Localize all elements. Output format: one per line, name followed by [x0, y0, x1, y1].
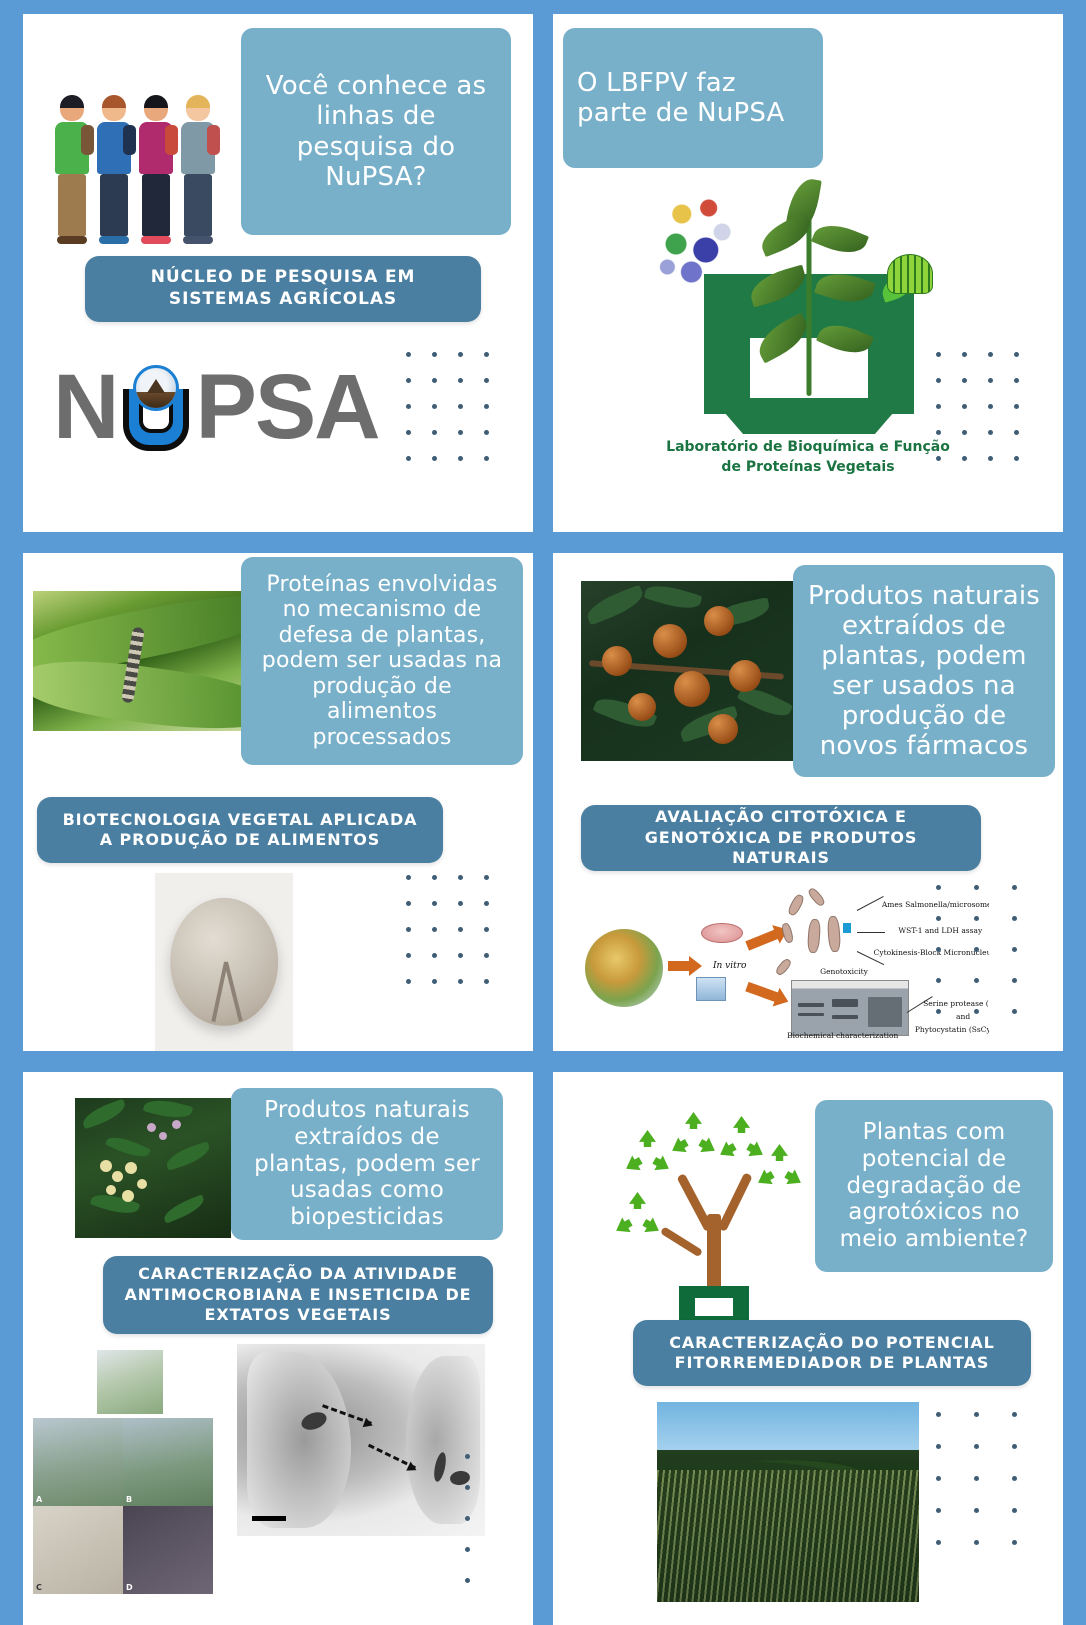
dot-grid-decoration [936, 885, 1017, 1014]
nupsa-logo-letter-n: N [53, 366, 117, 449]
bioassay-panel-label: C [36, 1583, 42, 1592]
nupsa-u-icon [119, 367, 193, 453]
panel-lbfpv-intro: O LBFPV faz parte de NuPSA Laboratório d… [553, 14, 1063, 532]
dot-grid-decoration [936, 1412, 1017, 1545]
gel-electrophoresis-image [791, 980, 909, 1036]
panel-biotecnologia-alimentos: Proteínas envolvidas no mecanismo de def… [23, 553, 533, 1051]
bioassay-cell-b: B [123, 1418, 213, 1506]
petri-dish-icon [701, 923, 743, 943]
panel-caption: CARACTERIZAÇÃO DA ATIVIDADE ANTIMOCROBIA… [103, 1256, 493, 1334]
in-vitro-label: In vitro [713, 961, 747, 971]
panel-biopesticidas: Produtos naturais extraídos de plantas, … [23, 1072, 533, 1625]
panel-citotoxica-genotoxica: Produtos naturais extraídos de plantas, … [553, 553, 1063, 1051]
bioassay-cell-d: D [123, 1506, 213, 1594]
panel-headline: Produtos naturais extraídos de plantas, … [793, 565, 1055, 777]
panel-caption: AVALIAÇÃO CITOTÓXICA E GENOTÓXICA DE PRO… [581, 805, 981, 871]
panel-headline: Proteínas envolvidas no mecanismo de def… [241, 557, 523, 765]
flow-arrow-icon [745, 981, 778, 1001]
panel-caption: BIOTECNOLOGIA VEGETAL APLICADA A PRODUÇÃ… [37, 797, 443, 863]
bioassay-panel-label: A [36, 1495, 42, 1504]
student-figure [137, 95, 175, 244]
students-illustration [53, 74, 243, 244]
biochemical-characterization-label: Biochemical characterization [787, 1031, 898, 1040]
scale-bar [252, 1516, 286, 1521]
protein-label: Phytocystatin (SsCyst) [915, 1025, 989, 1034]
bioassay-panel-label: D [126, 1583, 133, 1592]
plate-reader-icon [696, 977, 726, 1001]
plant-extract-icon [585, 929, 663, 1007]
lbfpv-logo [649, 174, 969, 454]
recycle-icon [671, 1112, 719, 1160]
panel-headline: O LBFPV faz parte de NuPSA [563, 28, 823, 168]
bioassay-cell-a: A [33, 1418, 123, 1506]
bioassay-cell-c: C [33, 1506, 123, 1594]
dot-grid-decoration [406, 352, 489, 461]
panel-grid: Você conhece as linhas de pesquisa do Nu… [23, 14, 1063, 1625]
recycle-icon [615, 1192, 663, 1240]
fruit-branch-photo [581, 581, 793, 761]
dot-grid-decoration [936, 352, 1019, 461]
flow-arrow-icon [745, 930, 778, 951]
flow-arrow-icon [668, 961, 690, 971]
nupsa-logo-letters-psa: PSA [195, 366, 378, 449]
panel-headline: Você conhece as linhas de pesquisa do Nu… [241, 28, 511, 235]
student-figure [95, 95, 133, 244]
caterpillar-icon [887, 254, 933, 294]
student-figure [179, 95, 217, 244]
panel-headline: Produtos naturais extraídos de plantas, … [231, 1088, 503, 1240]
panel-headline: Plantas com potencial de degradação de a… [815, 1100, 1053, 1272]
recycle-icon [757, 1144, 805, 1192]
flowering-tree-photo [75, 1098, 231, 1238]
dot-grid-decoration [465, 1454, 470, 1583]
nupsa-logo: N PSA [53, 352, 413, 462]
dot-grid-decoration [406, 875, 489, 984]
seedling-pots-photo [97, 1350, 163, 1414]
panel-fitorremediacao: Plantas com potencial de degradação de a… [553, 1072, 1063, 1625]
infographic-poster: Você conhece as linhas de pesquisa do Nu… [0, 0, 1086, 1625]
processed-food-photo [155, 873, 293, 1051]
recycle-icon [625, 1130, 673, 1178]
genotoxicity-workflow-diagram: Ames Salmonella/microsome assay WST-1 an… [577, 881, 989, 1041]
protein-structure-icon [653, 192, 749, 292]
bioassay-panel-label: B [126, 1495, 132, 1504]
crop-field-photo [657, 1402, 919, 1602]
student-figure [53, 95, 91, 244]
leaf-icon [811, 217, 869, 261]
corn-caterpillar-photo [33, 591, 251, 731]
recycling-tree-illustration [609, 1106, 819, 1326]
genotoxicity-label: Genotoxicity [820, 967, 868, 976]
microscopy-photo [237, 1344, 485, 1536]
panel-nupsa-intro: Você conhece as linhas de pesquisa do Nu… [23, 14, 533, 532]
bioassay-composite-photo: A B C D [33, 1418, 213, 1594]
panel-caption: CARACTERIZAÇÃO DO POTENCIAL FITORREMEDIA… [633, 1320, 1031, 1386]
panel-caption: NÚCLEO DE PESQUISA EM SISTEMAS AGRÍCOLAS [85, 256, 481, 322]
